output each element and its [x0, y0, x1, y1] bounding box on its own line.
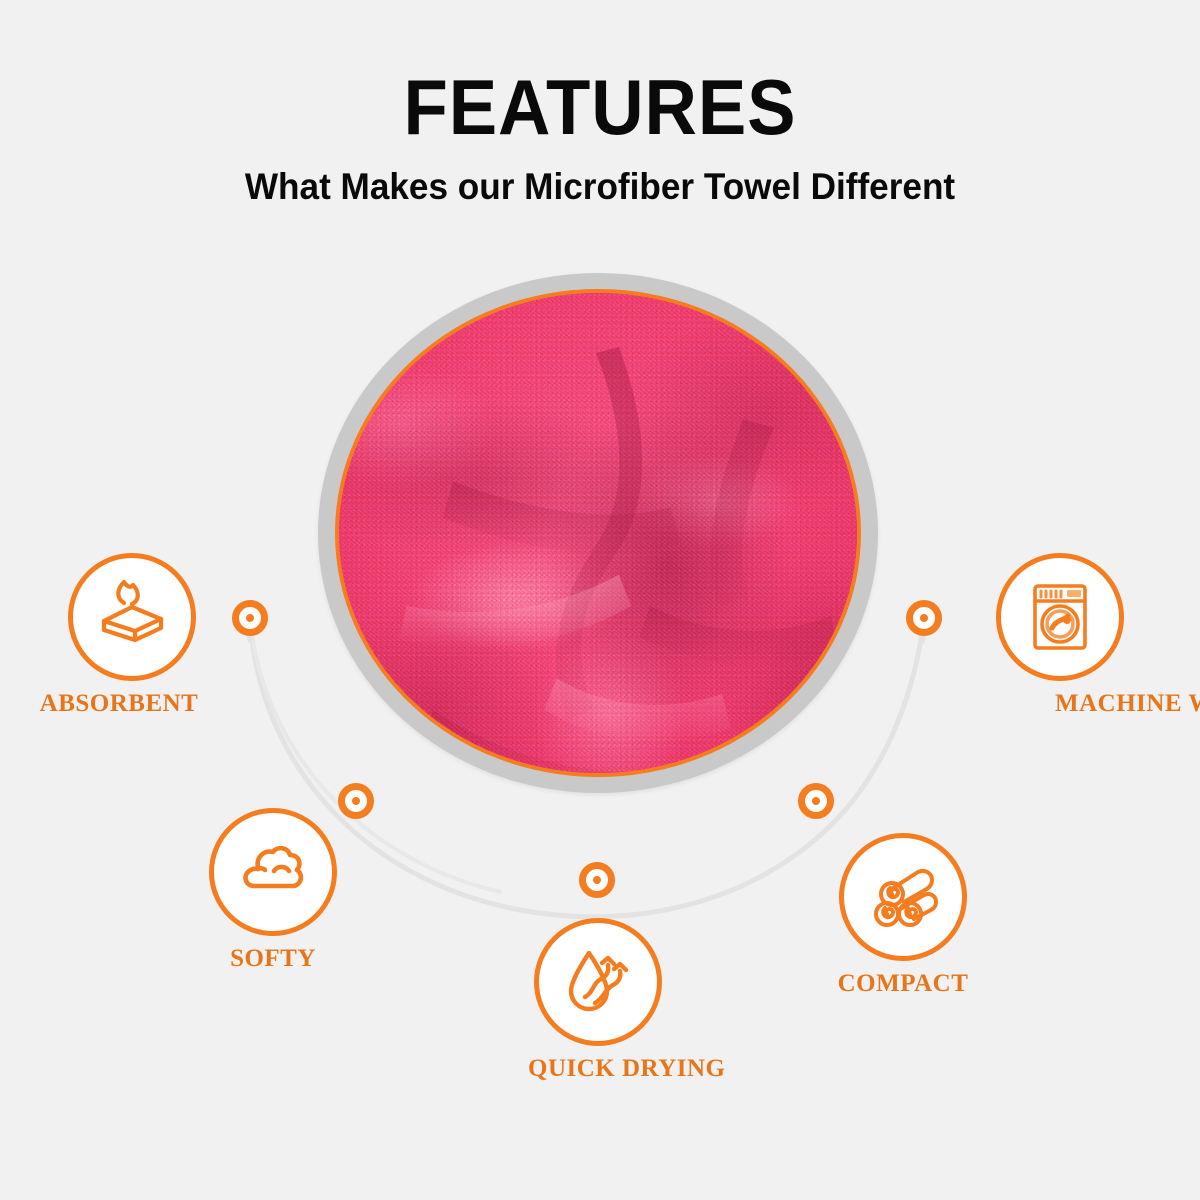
badge-compact[interactable] — [839, 833, 967, 961]
cloud-icon — [232, 831, 314, 913]
connector-node-compact — [798, 783, 834, 819]
feature-machine-washable[interactable]: MACHINE WASHABLE — [995, 553, 1125, 718]
header: FEATURES What Makes our Microfiber Towel… — [0, 0, 1200, 205]
connector-node-absorbent — [232, 600, 268, 636]
feature-absorbent[interactable]: ABSORBENT — [47, 553, 217, 718]
feature-compact[interactable]: COMPACT — [833, 833, 973, 998]
feature-label-compact: COMPACT — [833, 970, 973, 998]
feature-softy[interactable]: SOFTY — [203, 808, 343, 973]
feature-label-quick-drying: QUICK DRYING — [528, 1055, 668, 1083]
connector-node-quick-drying — [579, 862, 615, 898]
towel-swirl-folds — [335, 289, 861, 777]
badge-softy[interactable] — [209, 808, 337, 936]
connector-node-softy — [338, 783, 374, 819]
rolled-towels-icon — [862, 856, 944, 938]
towel-with-droplet-icon — [91, 576, 173, 658]
feature-infographic: FEATURES What Makes our Microfiber Towel… — [0, 0, 1200, 1200]
feature-label-machine-washable: MACHINE WASHABLE — [1055, 690, 1185, 718]
badge-quick-drying[interactable] — [534, 918, 662, 1046]
feature-label-absorbent: ABSORBENT — [34, 690, 204, 718]
center-photo-frame — [318, 273, 878, 793]
connector-node-machine-washable — [906, 600, 942, 636]
washing-machine-icon — [1019, 576, 1101, 658]
page-subtitle: What Makes our Microfiber Towel Differen… — [30, 146, 1170, 205]
page-title: FEATURES — [42, 0, 1158, 146]
feature-label-softy: SOFTY — [203, 945, 343, 973]
towel-texture — [335, 289, 861, 777]
droplet-with-arrows-icon — [557, 941, 639, 1023]
badge-machine-washable[interactable] — [996, 553, 1124, 681]
feature-quick-drying[interactable]: QUICK DRYING — [528, 918, 668, 1083]
center-photo — [335, 289, 861, 777]
badge-absorbent[interactable] — [68, 553, 196, 681]
